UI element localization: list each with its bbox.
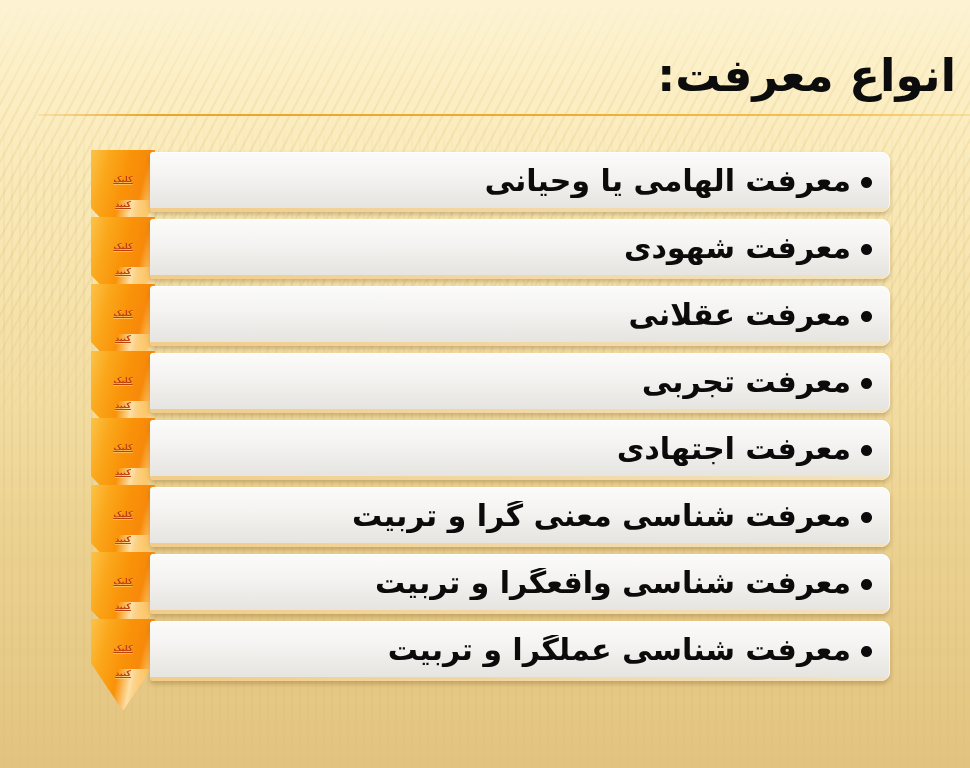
arrow-caption-line2: کنید (91, 201, 155, 210)
arrow-caption-line1: کلیک (91, 176, 155, 185)
bullet-dot-icon (861, 244, 872, 255)
arrow-caption-line1: کلیک (91, 578, 155, 587)
bullet-bar-label: معرفت شناسی عملگرا و تربیت (164, 635, 851, 667)
chevron-shape (91, 619, 155, 711)
bullet-bar-list: معرفت الهامی یا وحیانیمعرفت شهودیمعرفت ع… (150, 152, 890, 688)
bullet-bar-label: معرفت اجتهادی (164, 434, 851, 466)
arrow-caption-line2: کنید (91, 469, 155, 478)
bullet-dot-icon (861, 177, 872, 188)
page-title: انواع معرفت: (16, 52, 956, 99)
bullet-dot-icon (861, 579, 872, 590)
arrow-caption-line1: کلیک (91, 511, 155, 520)
arrow-caption-line2: کنید (91, 402, 155, 411)
bullet-bar-label: معرفت شناسی واقعگرا و تربیت (164, 568, 851, 600)
arrow-caption-line1: کلیک (91, 310, 155, 319)
title-divider-rule (38, 114, 970, 116)
bullet-bar[interactable]: معرفت تجربی (150, 353, 890, 413)
bullet-dot-icon (861, 646, 872, 657)
bullet-bar[interactable]: معرفت شناسی واقعگرا و تربیت (150, 554, 890, 614)
arrow-caption-line1: کلیک (91, 377, 155, 386)
bullet-dot-icon (861, 311, 872, 322)
bullet-bar[interactable]: معرفت الهامی یا وحیانی (150, 152, 890, 212)
arrow-caption-line1: کلیک (91, 444, 155, 453)
bullet-dot-icon (861, 445, 872, 456)
arrow-caption-line2: کنید (91, 670, 155, 679)
arrow-caption-line1: کلیک (91, 243, 155, 252)
arrow-caption-line2: کنید (91, 268, 155, 277)
bullet-bar-label: معرفت تجربی (164, 367, 851, 399)
arrow-caption-line1: کلیک (91, 645, 155, 654)
arrow-caption-line2: کنید (91, 603, 155, 612)
arrow-caption-line2: کنید (91, 536, 155, 545)
bullet-bar-label: معرفت عقلانی (164, 300, 851, 332)
bullet-bar[interactable]: معرفت عقلانی (150, 286, 890, 346)
chevron-arrow-icon[interactable]: کلیککنید (91, 619, 155, 711)
presentation-slide: انواع معرفت: کلیککنیدکلیککنیدکلیککنیدکلی… (0, 0, 970, 768)
arrow-chain-rail: کلیککنیدکلیککنیدکلیککنیدکلیککنیدکلیککنید… (91, 150, 157, 706)
bullet-bar-label: معرفت شهودی (164, 233, 851, 265)
bullet-bar[interactable]: معرفت شهودی (150, 219, 890, 279)
bullet-dot-icon (861, 512, 872, 523)
bullet-bar-label: معرفت الهامی یا وحیانی (164, 166, 851, 198)
arrow-caption-line2: کنید (91, 335, 155, 344)
bullet-bar-label: معرفت شناسی معنی گرا و تربیت (164, 501, 851, 533)
title-zone: انواع معرفت: (16, 52, 956, 99)
bullet-bar[interactable]: معرفت شناسی معنی گرا و تربیت (150, 487, 890, 547)
bullet-dot-icon (861, 378, 872, 389)
bullet-bar[interactable]: معرفت شناسی عملگرا و تربیت (150, 621, 890, 681)
bullet-bar[interactable]: معرفت اجتهادی (150, 420, 890, 480)
